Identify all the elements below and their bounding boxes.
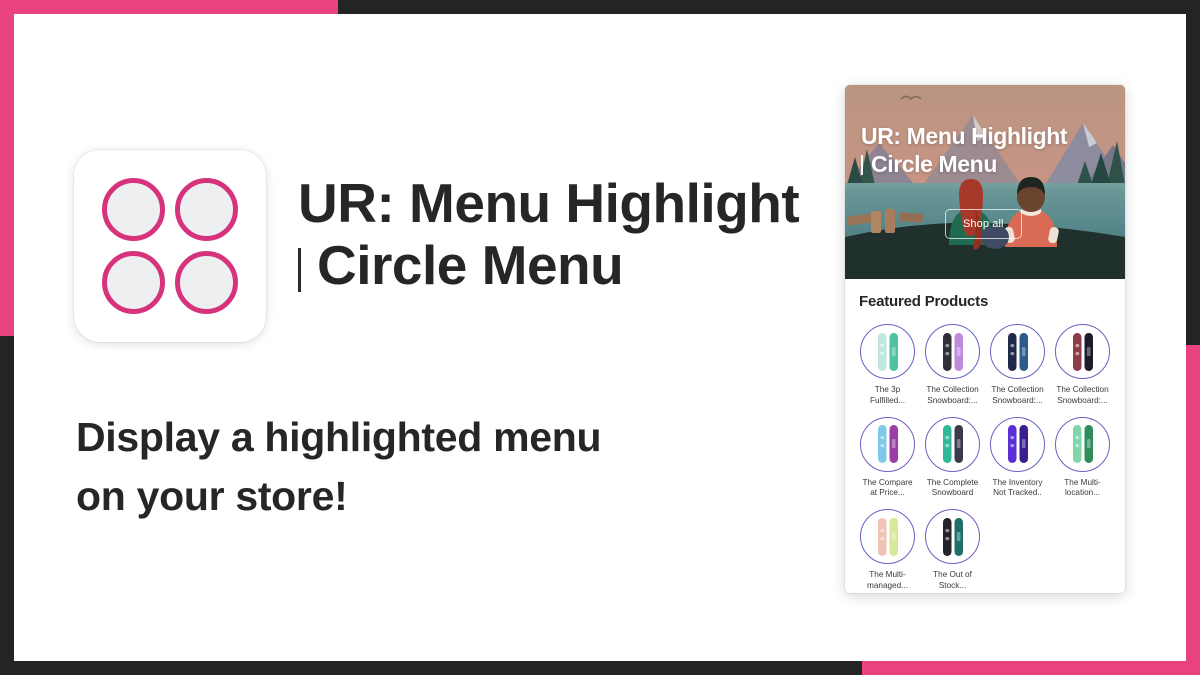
frame-bar-bottom-pink (862, 661, 1200, 675)
circle-icon (175, 251, 238, 314)
page-title: UR: Menu Highlight Circle Menu (298, 172, 838, 296)
product-label-line2: Snowboard:... (1056, 396, 1108, 407)
product-item[interactable]: The CollectionSnowboard:... (1052, 324, 1113, 407)
frame-bar-left-pink (0, 0, 14, 336)
product-label: The Out ofStock... (933, 570, 972, 592)
hero-title-separator-rule (861, 155, 863, 175)
frame-bar-bottom-dark (0, 661, 862, 675)
page-subtitle: Display a highlighted menu on your store… (76, 408, 716, 527)
snowboard-icon (931, 330, 975, 374)
product-label: The CompleteSnowboard (927, 478, 978, 500)
snowboard-icon (866, 422, 910, 466)
page-subtitle-line1: Display a highlighted menu (76, 408, 716, 467)
product-circle-thumbnail[interactable] (925, 324, 980, 379)
product-label-line2: Snowboard (927, 488, 978, 499)
product-item[interactable]: The 3pFulfilled... (857, 324, 918, 407)
app-icon (74, 150, 266, 342)
hero-title-line2-text: Circle Menu (871, 151, 997, 177)
circle-icon (102, 178, 165, 241)
snowboard-icon (996, 330, 1040, 374)
product-label-line2: Snowboard:... (991, 396, 1043, 407)
product-label-line2: Not Tracked.. (992, 488, 1042, 499)
slide-canvas: UR: Menu Highlight Circle Menu Display a… (0, 0, 1200, 675)
product-item[interactable]: The CollectionSnowboard:... (922, 324, 983, 407)
circle-icon (102, 251, 165, 314)
store-preview-card: UR: Menu Highlight Circle Menu Shop all … (845, 85, 1125, 593)
product-label: The CollectionSnowboard:... (991, 385, 1043, 407)
featured-products-section: Featured Products The 3pFulfilled...The … (845, 279, 1125, 592)
product-circle-thumbnail[interactable] (925, 509, 980, 564)
frame-bar-right-dark (1186, 0, 1200, 345)
snowboard-icon (866, 515, 910, 559)
product-circle-thumbnail[interactable] (860, 324, 915, 379)
product-item[interactable]: The Multi-managed... (857, 509, 918, 592)
product-circle-thumbnail[interactable] (925, 417, 980, 472)
featured-products-title: Featured Products (859, 293, 1113, 310)
frame-bar-top-pink (0, 0, 338, 14)
product-label-line2: Stock... (933, 581, 972, 592)
hero-illustration (845, 85, 1125, 279)
snowboard-icon (866, 330, 910, 374)
hero-title-line2: Circle Menu (861, 151, 1115, 179)
product-item[interactable]: The CompleteSnowboard (922, 417, 983, 500)
product-item[interactable]: The InventoryNot Tracked.. (987, 417, 1048, 500)
product-label-line1: The 3p (870, 385, 905, 396)
page-title-line2: Circle Menu (298, 234, 838, 296)
product-circle-thumbnail[interactable] (1055, 324, 1110, 379)
product-label-line1: The Complete (927, 478, 978, 489)
product-label-line1: The Collection (991, 385, 1043, 396)
snowboard-icon (1061, 422, 1105, 466)
product-label-line2: Snowboard:... (926, 396, 978, 407)
product-label: The Multi-managed... (867, 570, 908, 592)
product-label: The InventoryNot Tracked.. (992, 478, 1042, 500)
snowboard-icon (996, 422, 1040, 466)
product-label: The CollectionSnowboard:... (926, 385, 978, 407)
circle-icon (175, 178, 238, 241)
hero-banner: UR: Menu Highlight Circle Menu Shop all (845, 85, 1125, 279)
shop-all-button[interactable]: Shop all (945, 209, 1022, 239)
product-label-line2: at Price... (862, 488, 912, 499)
hero-title-line1: UR: Menu Highlight (861, 123, 1115, 151)
page-subtitle-line2: on your store! (76, 467, 716, 526)
product-label-line2: managed... (867, 581, 908, 592)
product-label-line1: The Inventory (992, 478, 1042, 489)
product-circle-thumbnail[interactable] (860, 509, 915, 564)
product-item[interactable]: The Compareat Price... (857, 417, 918, 500)
product-item[interactable]: The Multi-location... (1052, 417, 1113, 500)
frame-bar-left-dark (0, 336, 14, 675)
product-label-line1: The Compare (862, 478, 912, 489)
product-label-line2: location... (1064, 488, 1100, 499)
page-title-line1: UR: Menu Highlight (298, 172, 838, 234)
product-label: The CollectionSnowboard:... (1056, 385, 1108, 407)
title-separator-rule (298, 248, 301, 292)
product-item[interactable]: The Out ofStock... (922, 509, 983, 592)
product-item[interactable]: The CollectionSnowboard:... (987, 324, 1048, 407)
product-grid: The 3pFulfilled...The CollectionSnowboar… (857, 324, 1113, 592)
product-label: The Multi-location... (1064, 478, 1100, 500)
product-label-line2: Fulfilled... (870, 396, 905, 407)
product-label: The 3pFulfilled... (870, 385, 905, 407)
snowboard-icon (1061, 330, 1105, 374)
product-circle-thumbnail[interactable] (990, 417, 1045, 472)
product-label-line1: The Collection (926, 385, 978, 396)
hero-title: UR: Menu Highlight Circle Menu (861, 123, 1115, 178)
product-label-line1: The Multi- (867, 570, 908, 581)
product-circle-thumbnail[interactable] (1055, 417, 1110, 472)
frame-bar-right-pink (1186, 345, 1200, 675)
product-circle-thumbnail[interactable] (860, 417, 915, 472)
product-label: The Compareat Price... (862, 478, 912, 500)
product-label-line1: The Out of (933, 570, 972, 581)
product-label-line1: The Collection (1056, 385, 1108, 396)
product-circle-thumbnail[interactable] (990, 324, 1045, 379)
snowboard-icon (931, 515, 975, 559)
page-title-line2-text: Circle Menu (317, 234, 623, 296)
snowboard-icon (931, 422, 975, 466)
frame-bar-top-dark (338, 0, 1200, 14)
product-label-line1: The Multi- (1064, 478, 1100, 489)
